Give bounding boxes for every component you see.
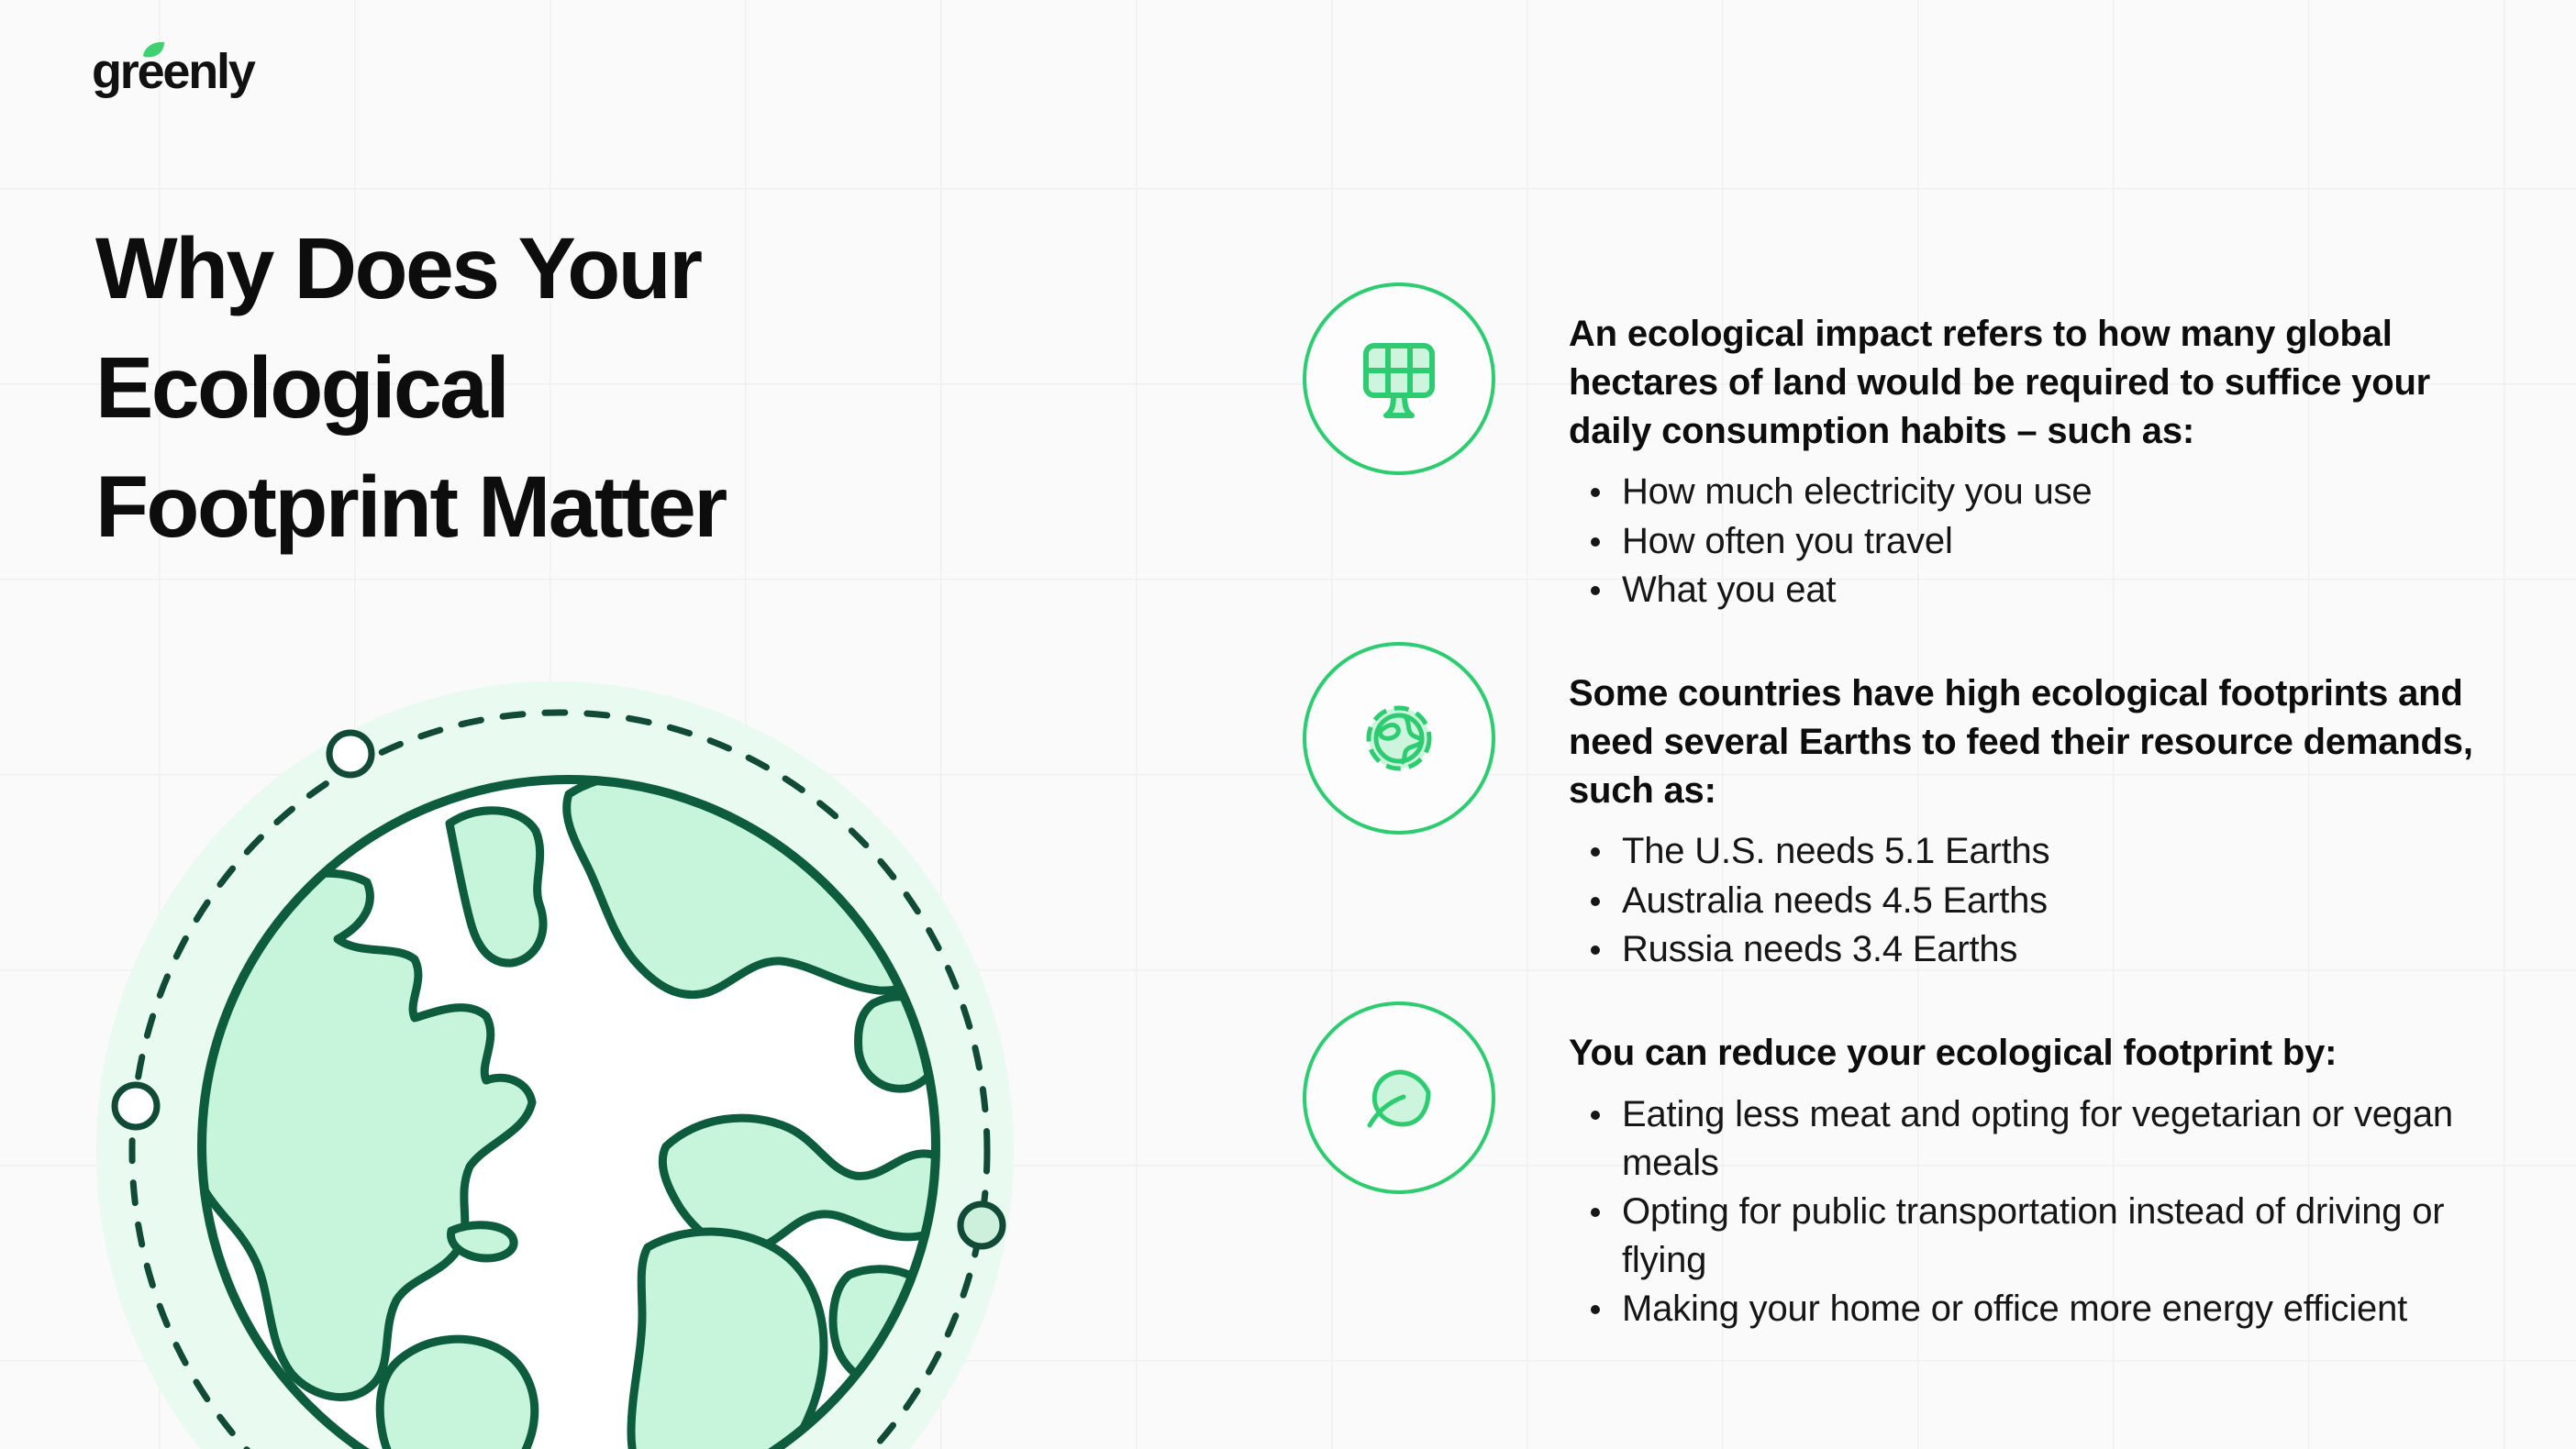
info-block-2-heading: Some countries have high ecological foot… xyxy=(1569,669,2523,814)
list-item: Opting for public transportation instead… xyxy=(1569,1188,2523,1285)
content-column: An ecological impact refers to how many … xyxy=(1303,303,2523,1334)
info-block-1-list: How much electricity you use How often y… xyxy=(1569,468,2523,614)
list-item: Eating less meat and opting for vegetari… xyxy=(1569,1090,2523,1188)
globe-svg xyxy=(55,633,1083,1449)
info-block-1-heading: An ecological impact refers to how many … xyxy=(1569,310,2523,455)
info-block-3-body: You can reduce your ecological footprint… xyxy=(1495,1022,2523,1334)
page-title: Why Does Your Ecological Footprint Matte… xyxy=(95,209,1068,567)
orbit-node-right xyxy=(960,1204,1003,1246)
headline-line-2: Ecological xyxy=(95,328,1068,448)
info-block-3-list: Eating less meat and opting for vegetari… xyxy=(1569,1090,2523,1334)
list-item: How often you travel xyxy=(1569,517,2523,566)
greenly-logo[interactable]: greenly xyxy=(92,48,254,95)
orbit-node-left xyxy=(115,1085,157,1127)
list-item: Making your home or office more energy e… xyxy=(1569,1285,2523,1333)
info-block-2-list: The U.S. needs 5.1 Earths Australia need… xyxy=(1569,827,2523,974)
list-item: How much electricity you use xyxy=(1569,468,2523,516)
earth-globe-icon-badge xyxy=(1303,642,1495,835)
orbit-node-top xyxy=(329,733,372,775)
list-item: The U.S. needs 5.1 Earths xyxy=(1569,827,2523,876)
leaf-icon-badge xyxy=(1303,1001,1495,1194)
headline-line-3: Footprint Matter xyxy=(95,448,1068,567)
list-item: Australia needs 4.5 Earths xyxy=(1569,877,2523,925)
solar-panel-icon-badge xyxy=(1303,282,1495,475)
info-block-1-body: An ecological impact refers to how many … xyxy=(1495,303,2523,614)
info-block-3: You can reduce your ecological footprint… xyxy=(1303,1022,2523,1334)
info-block-2: Some countries have high ecological foot… xyxy=(1303,662,2523,974)
info-block-1: An ecological impact refers to how many … xyxy=(1303,303,2523,614)
list-item: Russia needs 3.4 Earths xyxy=(1569,925,2523,974)
headline-line-1: Why Does Your xyxy=(95,209,1068,328)
logo-wordmark: greenly xyxy=(92,47,254,96)
info-block-3-heading: You can reduce your ecological footprint… xyxy=(1569,1029,2523,1078)
earth-globe-icon xyxy=(1353,692,1445,784)
info-block-2-body: Some countries have high ecological foot… xyxy=(1495,662,2523,974)
solar-panel-icon xyxy=(1353,333,1445,425)
leaf-icon xyxy=(1353,1052,1445,1144)
earth-globe-illustration xyxy=(55,633,1083,1449)
infographic-page: greenly Why Does Your Ecological Footpri… xyxy=(0,0,2576,1449)
list-item: What you eat xyxy=(1569,566,2523,614)
leaf-icon xyxy=(141,41,165,60)
